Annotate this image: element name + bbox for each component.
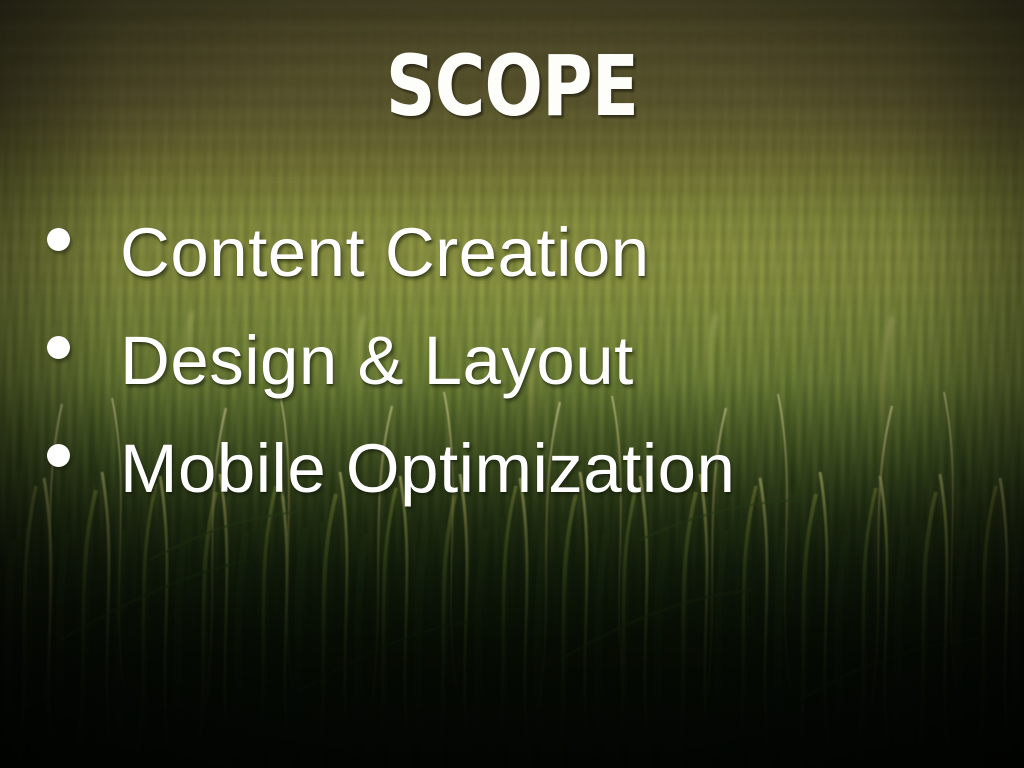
bullet-dot-icon	[47, 336, 70, 359]
list-item-label: Mobile Optimization	[120, 414, 735, 522]
list-item: Content Creation	[0, 198, 1024, 306]
slide-content: SCOPE Content Creation Design & Layout M…	[0, 0, 1024, 768]
list-item: Design & Layout	[0, 306, 1024, 414]
list-item: Mobile Optimization	[0, 414, 1024, 522]
list-item-label: Content Creation	[120, 198, 650, 306]
presentation-slide: SCOPE Content Creation Design & Layout M…	[0, 0, 1024, 768]
bullet-dot-icon	[47, 228, 70, 251]
bullet-list: Content Creation Design & Layout Mobile …	[0, 198, 1024, 522]
bullet-dot-icon	[47, 444, 70, 467]
slide-title: SCOPE	[92, 44, 932, 128]
list-item-label: Design & Layout	[120, 306, 634, 414]
